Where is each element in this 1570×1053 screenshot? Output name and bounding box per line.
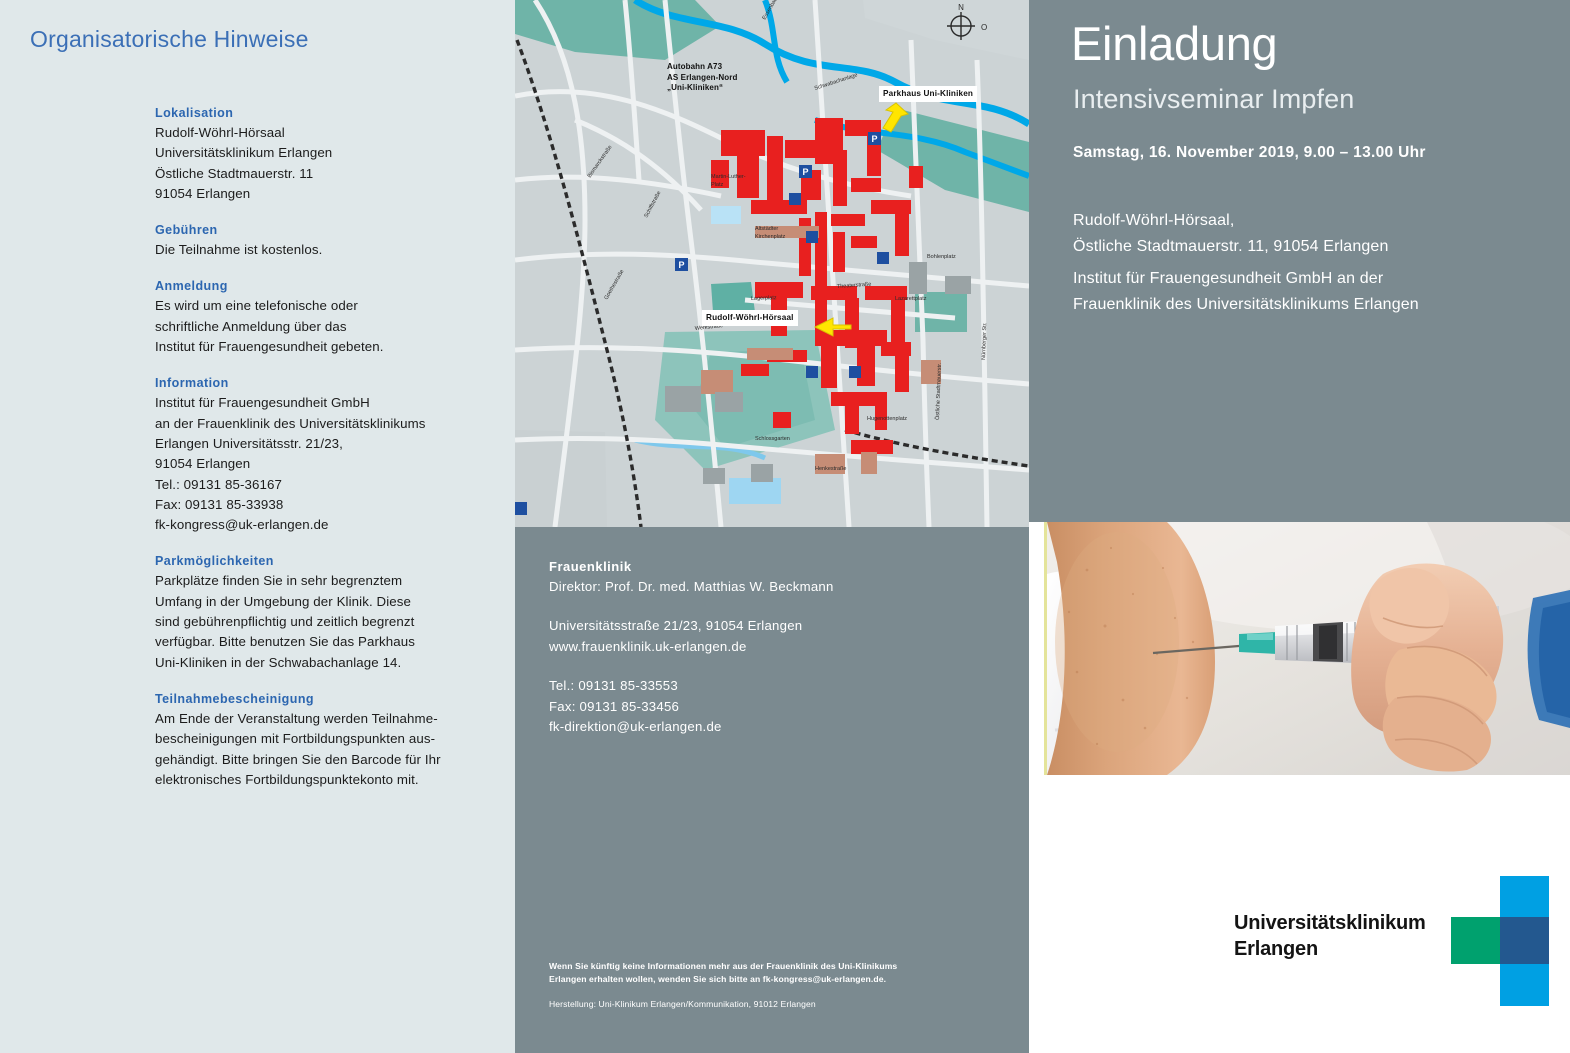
university-hospital-logo: Universitätsklinikum Erlangen bbox=[1234, 876, 1570, 1006]
notes-block-line: schriftliche Anmeldung über das bbox=[155, 317, 495, 337]
svg-text:Hugenottenplatz: Hugenottenplatz bbox=[867, 416, 907, 422]
notes-block-line: Institut für Frauengesundheit gebeten. bbox=[155, 337, 495, 357]
svg-text:Schlossgarten: Schlossgarten bbox=[755, 436, 790, 442]
logo-cross-horizontal-bar bbox=[1451, 917, 1500, 964]
map-note-autobahn: Autobahn A73 AS Erlangen-Nord „Uni-Klini… bbox=[667, 62, 738, 94]
map-note-line-2: AS Erlangen-Nord bbox=[667, 73, 738, 84]
invitation-subtitle: Intensivseminar Impfen bbox=[1073, 82, 1354, 116]
notes-block-line: elektronisches Fortbildungspunktekonto m… bbox=[155, 770, 495, 790]
notes-block: TeilnahmebescheinigungAm Ende der Verans… bbox=[155, 690, 495, 790]
event-venue: Rudolf-Wöhrl-Hörsaal, Östliche Stadtmaue… bbox=[1073, 208, 1389, 260]
vaccination-photo-graphic bbox=[1047, 522, 1570, 775]
logo-line-2: Erlangen bbox=[1234, 936, 1426, 962]
notes-block: AnmeldungEs wird um eine telefonische od… bbox=[155, 277, 495, 357]
optout-line-2: Erlangen erhalten wollen, wenden Sie sic… bbox=[549, 973, 1001, 986]
logo-cross-center-square bbox=[1500, 917, 1549, 964]
notes-block-heading: Gebühren bbox=[155, 221, 495, 239]
notes-block-line: Universitätsklinikum Erlangen bbox=[155, 143, 495, 163]
notes-block: GebührenDie Teilnahme ist kostenlos. bbox=[155, 221, 495, 260]
clinic-email[interactable]: fk-direktion@uk-erlangen.de bbox=[549, 717, 999, 737]
svg-text:Lazarettplatz: Lazarettplatz bbox=[895, 296, 927, 302]
clinic-name: Frauenklinik bbox=[549, 557, 999, 577]
panel-footer: Wenn Sie künftig keine Informationen meh… bbox=[549, 960, 1001, 1011]
svg-text:Altstädter: Altstädter bbox=[755, 226, 778, 232]
notes-block-line: Fax: 09131 85-33938 bbox=[155, 495, 495, 515]
notes-block-line: sind gebührenpflichtig und zeitlich begr… bbox=[155, 612, 495, 632]
optout-line-1: Wenn Sie künftig keine Informationen meh… bbox=[549, 960, 1001, 973]
organizer-line-1: Institut für Frauengesundheit GmbH an de… bbox=[1073, 266, 1419, 292]
logo-line-1: Universitätsklinikum bbox=[1234, 910, 1426, 936]
notes-block-list: LokalisationRudolf-Wöhrl-HörsaalUniversi… bbox=[155, 104, 495, 807]
clinic-director: Direktor: Prof. Dr. med. Matthias W. Bec… bbox=[549, 577, 999, 597]
svg-text:Platz: Platz bbox=[711, 182, 723, 188]
notes-block-heading: Information bbox=[155, 374, 495, 392]
clinic-phone: Tel.: 09131 85-33553 bbox=[549, 676, 999, 696]
notes-block-heading: Parkmöglichkeiten bbox=[155, 552, 495, 570]
production-credit: Herstellung: Uni-Klinikum Erlangen/Kommu… bbox=[549, 998, 1001, 1011]
svg-text:Henkestraße: Henkestraße bbox=[815, 466, 847, 472]
notes-block-line: verfügbar. Bitte benutzen Sie das Parkha… bbox=[155, 632, 495, 652]
clinic-fax: Fax: 09131 85-33456 bbox=[549, 697, 999, 717]
notes-block-line: Uni-Kliniken in der Schwabachanlage 14. bbox=[155, 653, 495, 673]
notes-block-heading: Teilnahmebescheinigung bbox=[155, 690, 495, 708]
svg-text:Bohlenplatz: Bohlenplatz bbox=[927, 254, 956, 260]
vaccination-photo bbox=[1044, 522, 1570, 775]
invitation-hero-panel: Einladung Intensivseminar Impfen Samstag… bbox=[1029, 0, 1570, 522]
svg-text:N: N bbox=[958, 3, 964, 12]
notes-block-line: Es wird um eine telefonische oder bbox=[155, 296, 495, 316]
svg-text:Lagerplatz: Lagerplatz bbox=[751, 295, 777, 302]
organizer-line-2: Frauenklinik des Universitätsklinikums E… bbox=[1073, 292, 1419, 318]
svg-text:P: P bbox=[871, 134, 877, 144]
location-map: P P P N O bbox=[515, 0, 1029, 527]
svg-text:O: O bbox=[981, 23, 987, 32]
map-graphic: P P P N O bbox=[515, 0, 1029, 527]
event-organizer: Institut für Frauengesundheit GmbH an de… bbox=[1073, 266, 1419, 318]
svg-text:Kirchenplatz: Kirchenplatz bbox=[755, 234, 786, 240]
notes-block-line: fk-kongress@uk-erlangen.de bbox=[155, 515, 495, 535]
notes-block-line: 91054 Erlangen bbox=[155, 184, 495, 204]
notes-block-line: bescheinigungen mit Fortbildungspunkten … bbox=[155, 729, 495, 749]
notes-block-line: Tel.: 09131 85-36167 bbox=[155, 475, 495, 495]
invitation-title: Einladung bbox=[1071, 16, 1277, 72]
notes-block-line: Institut für Frauengesundheit GmbH bbox=[155, 393, 495, 413]
logo-wordmark: Universitätsklinikum Erlangen bbox=[1234, 910, 1426, 962]
notes-block-line: gehändigt. Bitte bringen Sie den Barcode… bbox=[155, 750, 495, 770]
notes-block-line: Am Ende der Veranstaltung werden Teilnah… bbox=[155, 709, 495, 729]
notes-block: LokalisationRudolf-Wöhrl-HörsaalUniversi… bbox=[155, 104, 495, 204]
clinic-contact-panel: Frauenklinik Direktor: Prof. Dr. med. Ma… bbox=[515, 527, 1029, 1053]
notes-block: InformationInstitut für Frauengesundheit… bbox=[155, 374, 495, 535]
map-note-line-1: Autobahn A73 bbox=[667, 62, 738, 73]
organizational-notes-panel: Organisatorische Hinweise LokalisationRu… bbox=[0, 0, 515, 1053]
notes-block-line: Östliche Stadtmauerstr. 11 bbox=[155, 164, 495, 184]
svg-text:P: P bbox=[678, 260, 684, 270]
notes-block-heading: Anmeldung bbox=[155, 277, 495, 295]
notes-block-line: Parkplätze finden Sie in sehr begrenztem bbox=[155, 571, 495, 591]
notes-block-line: 91054 Erlangen bbox=[155, 454, 495, 474]
notes-block-heading: Lokalisation bbox=[155, 104, 495, 122]
notes-block-line: Umfang in der Umgebung der Klinik. Diese bbox=[155, 592, 495, 612]
notes-block: ParkmöglichkeitenParkplätze finden Sie i… bbox=[155, 552, 495, 672]
page-title: Organisatorische Hinweise bbox=[30, 26, 309, 53]
svg-text:P: P bbox=[802, 167, 808, 177]
map-note-line-3: „Uni-Kliniken“ bbox=[667, 83, 738, 94]
venue-line-1: Rudolf-Wöhrl-Hörsaal, bbox=[1073, 208, 1389, 234]
notes-block-line: Die Teilnahme ist kostenlos. bbox=[155, 240, 495, 260]
event-date: Samstag, 16. November 2019, 9.00 – 13.00… bbox=[1073, 144, 1426, 162]
notes-block-line: Rudolf-Wöhrl-Hörsaal bbox=[155, 123, 495, 143]
map-callout-parkhaus: Parkhaus Uni-Kliniken bbox=[879, 86, 977, 102]
clinic-address: Universitätsstraße 21/23, 91054 Erlangen bbox=[549, 616, 999, 636]
clinic-contact-block: Frauenklinik Direktor: Prof. Dr. med. Ma… bbox=[549, 557, 999, 737]
clinic-website[interactable]: www.frauenklinik.uk-erlangen.de bbox=[549, 637, 999, 657]
map-callout-hoersaal: Rudolf-Wöhrl-Hörsaal bbox=[702, 310, 798, 326]
notes-block-line: an der Frauenklinik des Universitätsklin… bbox=[155, 414, 495, 434]
notes-block-line: Erlangen Universitätsstr. 21/23, bbox=[155, 434, 495, 454]
venue-line-2: Östliche Stadtmauerstr. 11, 91054 Erlang… bbox=[1073, 234, 1389, 260]
svg-text:Martin-Luther-: Martin-Luther- bbox=[711, 174, 746, 180]
